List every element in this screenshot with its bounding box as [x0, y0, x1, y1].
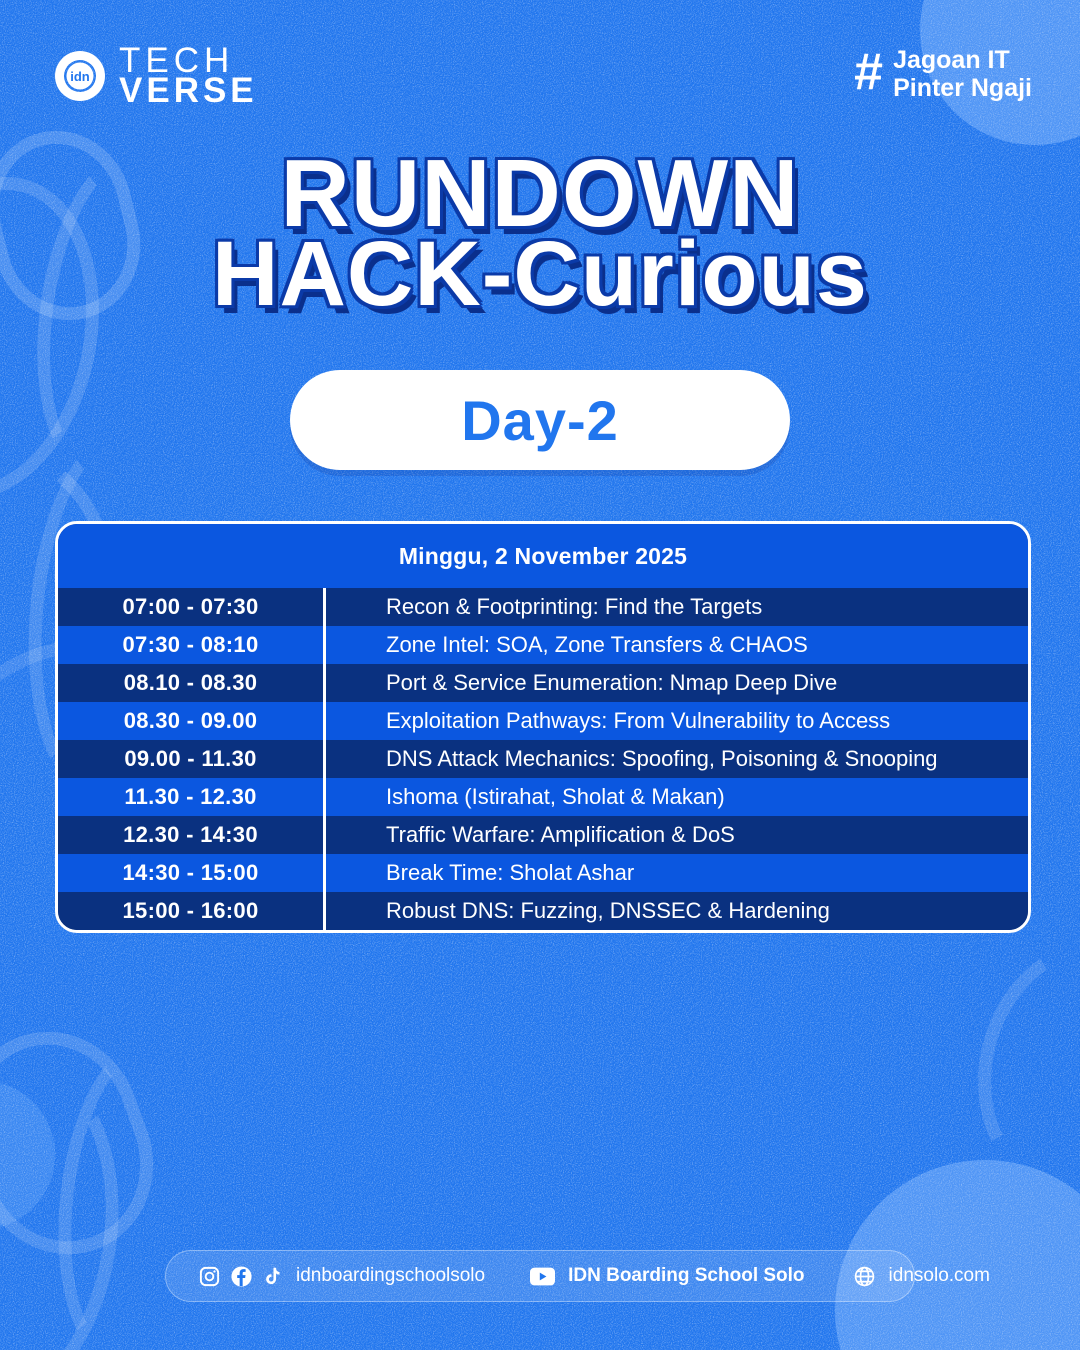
- schedule-activity-cell: DNS Attack Mechanics: Spoofing, Poisonin…: [326, 740, 1028, 778]
- page-title: RUNDOWN HACK-Curious: [0, 150, 1080, 317]
- tagline-line-2: Pinter Ngaji: [893, 74, 1032, 102]
- schedule-activity-cell: Robust DNS: Fuzzing, DNSSEC & Hardening: [326, 892, 1028, 930]
- schedule-activity-cell: Exploitation Pathways: From Vulnerabilit…: [326, 702, 1028, 740]
- schedule-activity-cell: Port & Service Enumeration: Nmap Deep Di…: [326, 664, 1028, 702]
- tagline-block: # Jagoan IT Pinter Ngaji: [854, 46, 1032, 102]
- table-row: 08.30 - 09.00Exploitation Pathways: From…: [58, 702, 1028, 740]
- header: idn TECH VERSE # Jagoan IT Pinter Ngaji: [0, 0, 1080, 140]
- table-row: 12.30 - 14:30Traffic Warfare: Amplificat…: [58, 816, 1028, 854]
- schedule-rows: 07:00 - 07:30Recon & Footprinting: Find …: [58, 588, 1028, 930]
- table-row: 08.10 - 08.30Port & Service Enumeration:…: [58, 664, 1028, 702]
- schedule-time-cell: 12.30 - 14:30: [58, 816, 326, 854]
- website-text: idnsolo.com: [889, 1265, 990, 1287]
- logo-line-2: VERSE: [119, 76, 258, 106]
- schedule-time-cell: 09.00 - 11.30: [58, 740, 326, 778]
- youtube-group: IDN Boarding School Solo: [530, 1265, 804, 1287]
- tagline-text: Jagoan IT Pinter Ngaji: [893, 46, 1032, 102]
- hashtag-icon: #: [854, 49, 883, 96]
- table-row: 07:00 - 07:30Recon & Footprinting: Find …: [58, 588, 1028, 626]
- youtube-channel-text: IDN Boarding School Solo: [568, 1265, 804, 1287]
- table-row: 07:30 - 08:10Zone Intel: SOA, Zone Trans…: [58, 626, 1028, 664]
- schedule-date-header: Minggu, 2 November 2025: [58, 524, 1028, 588]
- brand-wordmark: TECH VERSE: [119, 46, 258, 106]
- schedule-activity-cell: Traffic Warfare: Amplification & DoS: [326, 816, 1028, 854]
- schedule-time-cell: 15:00 - 16:00: [58, 892, 326, 930]
- idn-shutter-logo-icon: idn: [52, 48, 108, 104]
- day-badge: Day-2: [290, 370, 790, 470]
- social-handle-text: idnboardingschoolsolo: [296, 1265, 485, 1287]
- social-handles-group: idnboardingschoolsolo: [198, 1265, 485, 1288]
- brand-logo: idn TECH VERSE: [52, 46, 258, 106]
- footer-contact-bar: idnboardingschoolsolo IDN Boarding Schoo…: [165, 1250, 915, 1302]
- table-row: 14:30 - 15:00Break Time: Sholat Ashar: [58, 854, 1028, 892]
- table-row: 09.00 - 11.30DNS Attack Mechanics: Spoof…: [58, 740, 1028, 778]
- table-row: 15:00 - 16:00Robust DNS: Fuzzing, DNSSEC…: [58, 892, 1028, 930]
- youtube-icon[interactable]: [530, 1267, 555, 1286]
- svg-text:idn: idn: [70, 69, 90, 84]
- schedule-activity-cell: Zone Intel: SOA, Zone Transfers & CHAOS: [326, 626, 1028, 664]
- schedule-table: Minggu, 2 November 2025 07:00 - 07:30Rec…: [55, 521, 1031, 933]
- instagram-icon[interactable]: [198, 1265, 221, 1288]
- facebook-icon[interactable]: [230, 1265, 253, 1288]
- schedule-time-cell: 14:30 - 15:00: [58, 854, 326, 892]
- schedule-time-cell: 07:30 - 08:10: [58, 626, 326, 664]
- schedule-activity-cell: Ishoma (Istirahat, Sholat & Makan): [326, 778, 1028, 816]
- schedule-time-cell: 08.10 - 08.30: [58, 664, 326, 702]
- tiktok-icon[interactable]: [262, 1265, 283, 1288]
- schedule-time-cell: 07:00 - 07:30: [58, 588, 326, 626]
- globe-icon[interactable]: [853, 1265, 876, 1288]
- schedule-time-cell: 11.30 - 12.30: [58, 778, 326, 816]
- schedule-activity-cell: Break Time: Sholat Ashar: [326, 854, 1028, 892]
- website-group: idnsolo.com: [853, 1265, 990, 1288]
- day-badge-label: Day-2: [461, 388, 619, 453]
- schedule-time-cell: 08.30 - 09.00: [58, 702, 326, 740]
- tagline-line-1: Jagoan IT: [893, 46, 1032, 74]
- table-row: 11.30 - 12.30Ishoma (Istirahat, Sholat &…: [58, 778, 1028, 816]
- schedule-activity-cell: Recon & Footprinting: Find the Targets: [326, 588, 1028, 626]
- title-line-2: HACK-Curious: [0, 232, 1080, 317]
